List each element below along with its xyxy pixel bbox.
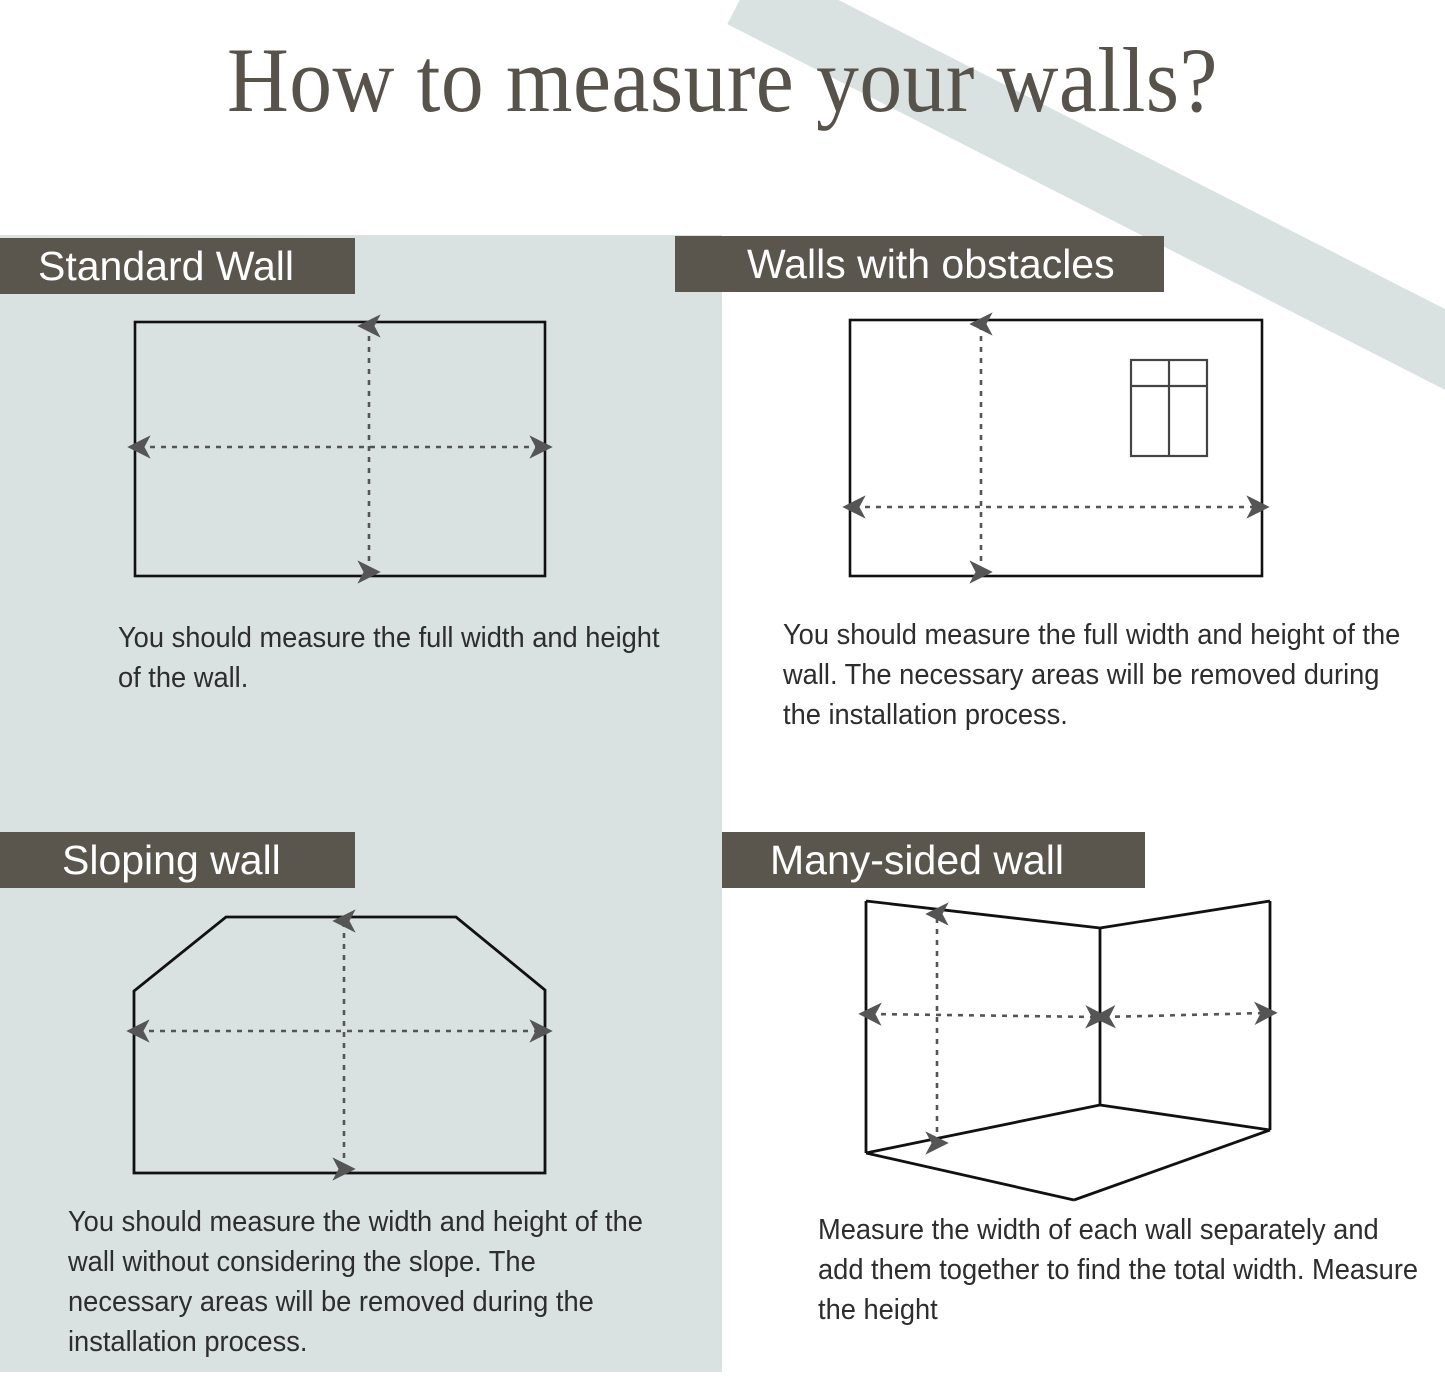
corner-room-perspective-diagram [835, 880, 1305, 1220]
section-heading-walls-with-obstacles: Walls with obstacles [675, 236, 1164, 292]
section-heading-many-sided-wall: Many-sided wall [722, 832, 1145, 888]
infographic-root: How to measure your walls? Standard Wall… [0, 0, 1445, 1386]
section-heading-standard-wall: Standard Wall [0, 238, 355, 294]
sloping-wall-pentagon-diagram [100, 895, 590, 1195]
wall-outline [134, 917, 545, 1173]
caption-standard-wall: You should measure the full width and he… [118, 618, 682, 698]
left-wall-width-arrow [870, 1014, 1097, 1017]
caption-many-sided-wall: Measure the width of each wall separatel… [818, 1210, 1420, 1330]
wall-outline [850, 320, 1262, 576]
caption-sloping-wall: You should measure the width and height … [68, 1202, 651, 1362]
caption-walls-with-obstacles: You should measure the full width and he… [783, 615, 1403, 735]
page-title: How to measure your walls? [51, 34, 1395, 126]
standard-wall-rectangle-diagram [100, 300, 580, 600]
window-obstacle-icon [1131, 360, 1207, 456]
section-heading-sloping-wall: Sloping wall [0, 832, 355, 888]
wall-outline [135, 322, 545, 576]
room-corner-outline [866, 901, 1270, 1200]
right-wall-width-arrow [1104, 1013, 1266, 1017]
wall-with-window-diagram [820, 300, 1300, 600]
